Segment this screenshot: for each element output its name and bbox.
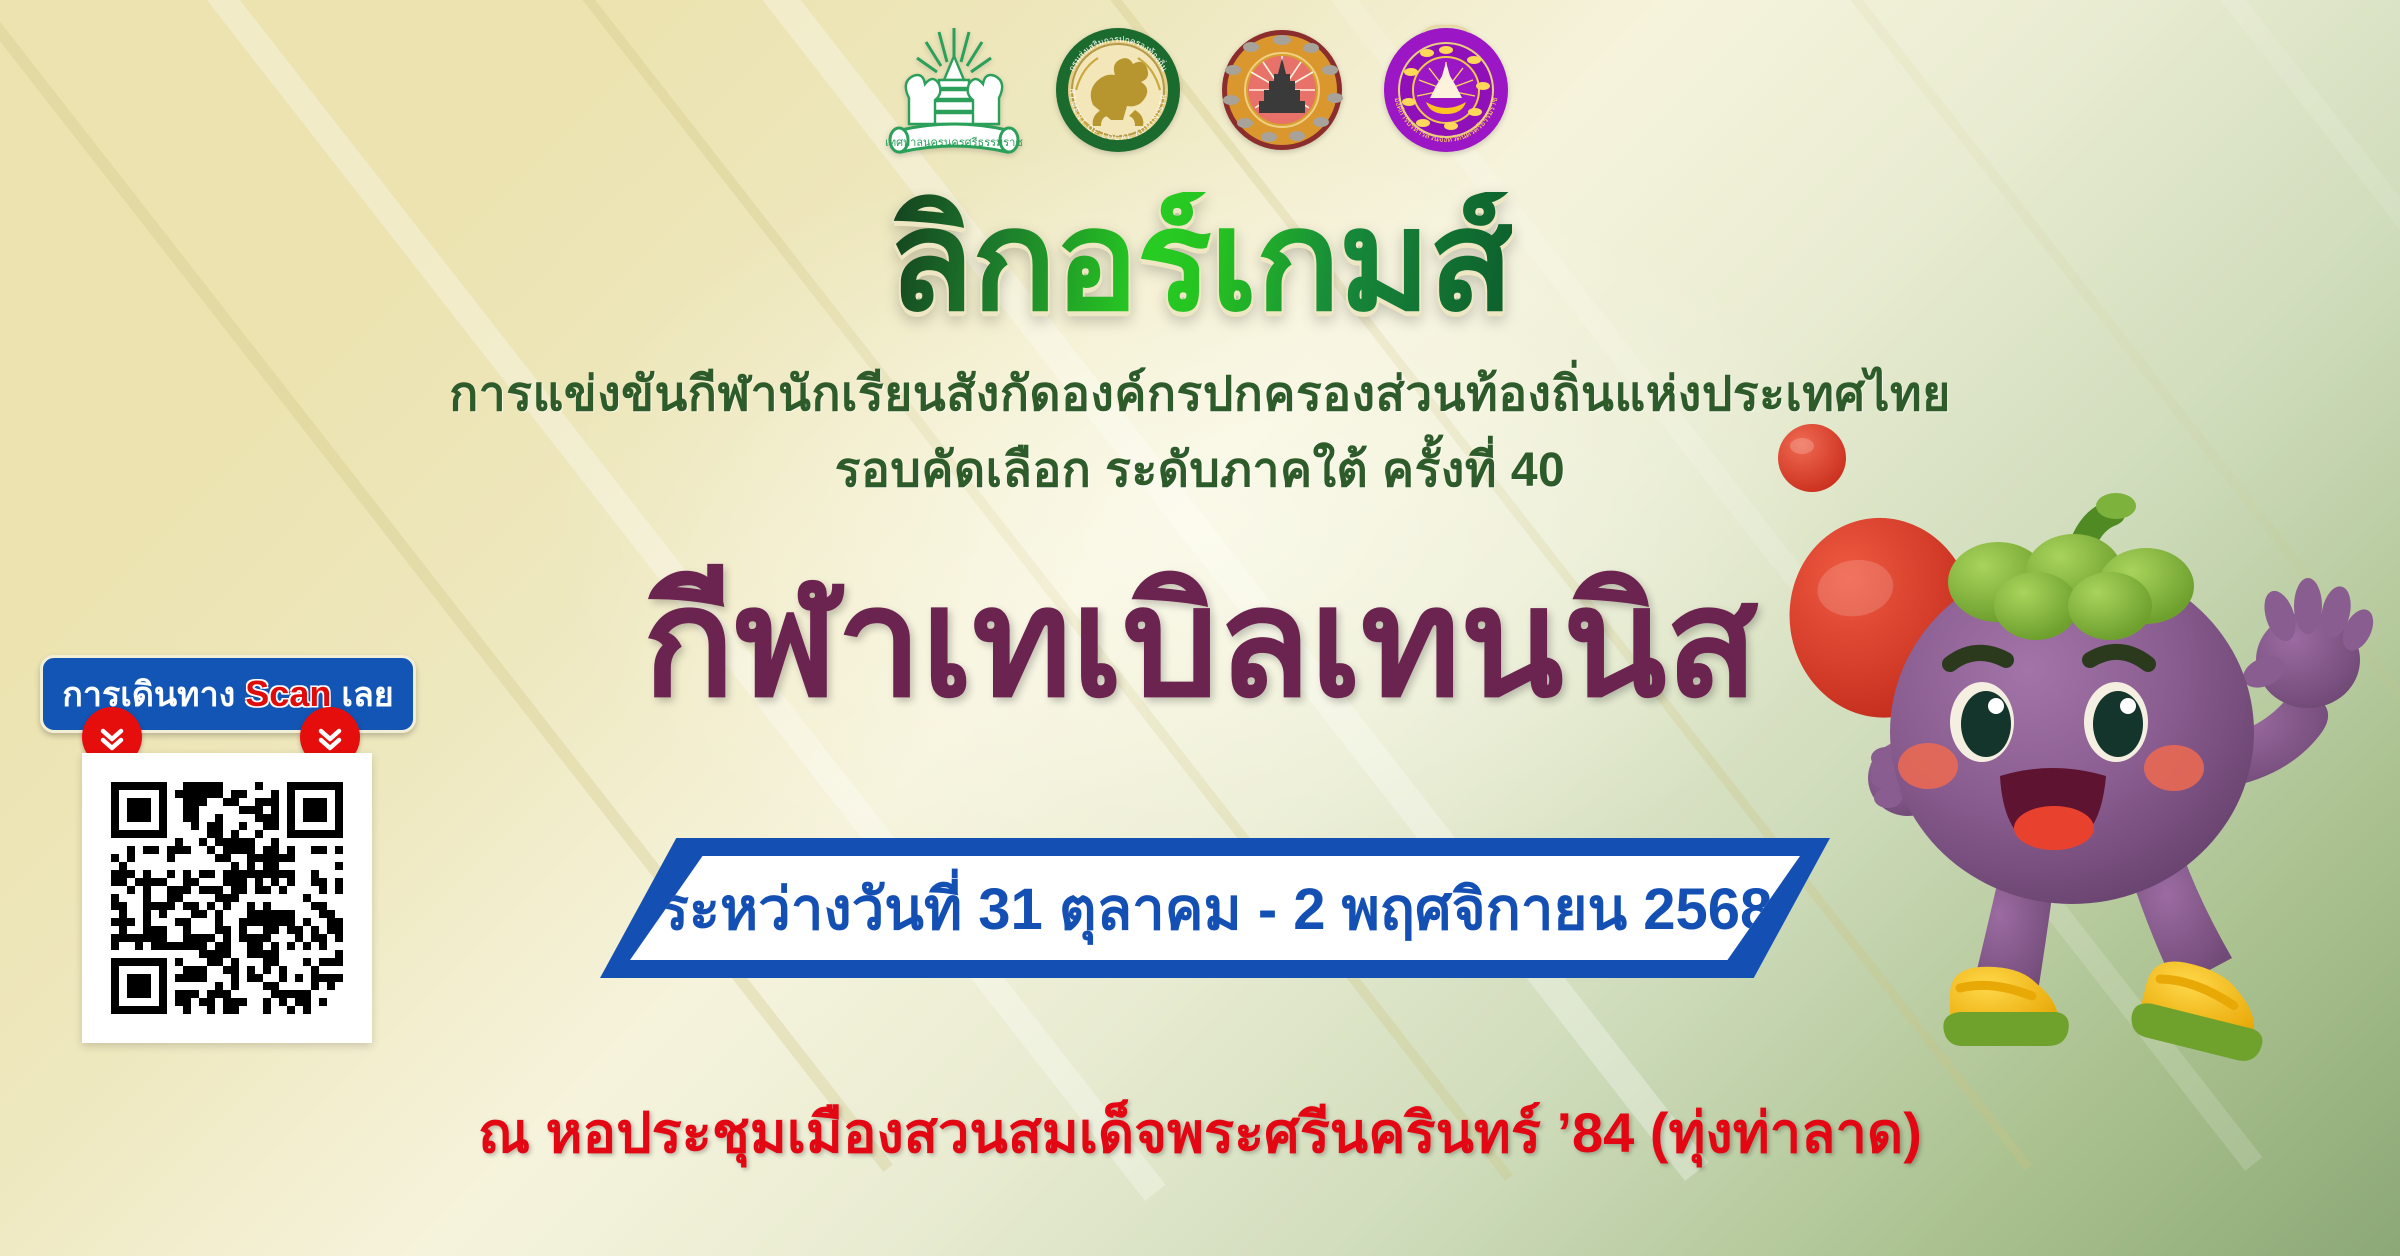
- emblem-nakhon-si-thammarat-municipality-seal: เทศบาลนครนครศรีธรรมราช: [879, 10, 1029, 170]
- qr-badge-suffix: เลย: [341, 667, 393, 721]
- emblem-nakhon-si-thammarat-province-seal: [1207, 10, 1357, 170]
- emblem-row: เทศบาลนครนครศรีธรรมราช: [0, 10, 2400, 170]
- mascot-right-shoe: [2127, 953, 2276, 1065]
- emblem-caption: เทศบาลนครนครศรีธรรมราช: [885, 136, 1023, 149]
- event-logo: ลิกอร์เกมส์: [0, 192, 2400, 332]
- qr-travel-block[interactable]: การเดินทาง Scan เลย: [40, 655, 430, 733]
- event-logo-text: ลิกอร์เกมส์: [888, 192, 1512, 332]
- mascot-left-shoe: [1943, 967, 2068, 1046]
- qr-code[interactable]: [82, 753, 372, 1043]
- ping-pong-ball: [1778, 424, 1846, 492]
- venue-text: ณ หอประชุมเมืองสวนสมเด็จพระศรีนครินทร์ ’…: [0, 1088, 2400, 1177]
- date-banner-inner: ระหว่างวันที่ 31 ตุลาคม - 2 พฤศจิกายน 25…: [630, 856, 1800, 960]
- date-banner: ระหว่างวันที่ 31 ตุลาคม - 2 พฤศจิกายน 25…: [600, 838, 1830, 978]
- mascot-right-hand: [2238, 578, 2379, 708]
- emblem-department-of-local-administration-seal: กรมส่งเสริมการปกครองท้องถิ่น DEPARTMENT …: [1043, 10, 1193, 170]
- qr-badge-prefix: การเดินทาง: [62, 667, 235, 721]
- mascot-leaf-crown: [1948, 493, 2194, 640]
- mangosteen-table-tennis-mascot: [1760, 410, 2380, 1100]
- poster-canvas: เทศบาลนครนครศรีธรรมราช: [0, 0, 2400, 1256]
- emblem-provincial-administrative-organization-seal: องค์การบริหารส่วนจังหวัดนครศรีธรรมราช: [1371, 10, 1521, 170]
- date-text: ระหว่างวันที่ 31 ตุลาคม - 2 พฤศจิกายน 25…: [658, 862, 1773, 955]
